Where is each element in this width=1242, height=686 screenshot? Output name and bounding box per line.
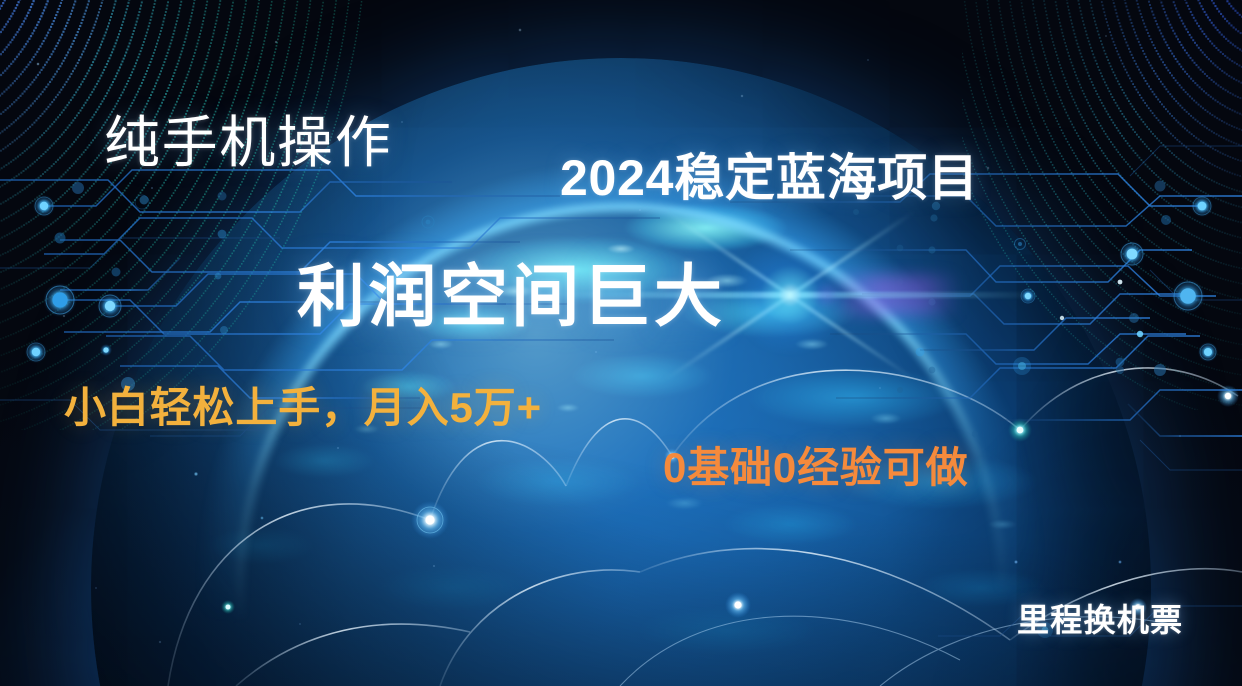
flare-core	[720, 225, 860, 365]
subhead-easy-income: 小白轻松上手，月入5万+	[64, 374, 542, 435]
watermark-brand: 里程换机票	[1017, 595, 1183, 641]
promo-poster: 纯手机操作 2024稳定蓝海项目 利润空间巨大 小白轻松上手，月入5万+ 0基础…	[0, 0, 1242, 686]
headline-profit-huge: 利润空间巨大	[297, 241, 725, 340]
headline-pure-mobile: 纯手机操作	[104, 98, 392, 179]
subhead-zero-base: 0基础0经验可做	[663, 434, 968, 495]
headline-year-project: 2024稳定蓝海项目	[560, 138, 979, 210]
